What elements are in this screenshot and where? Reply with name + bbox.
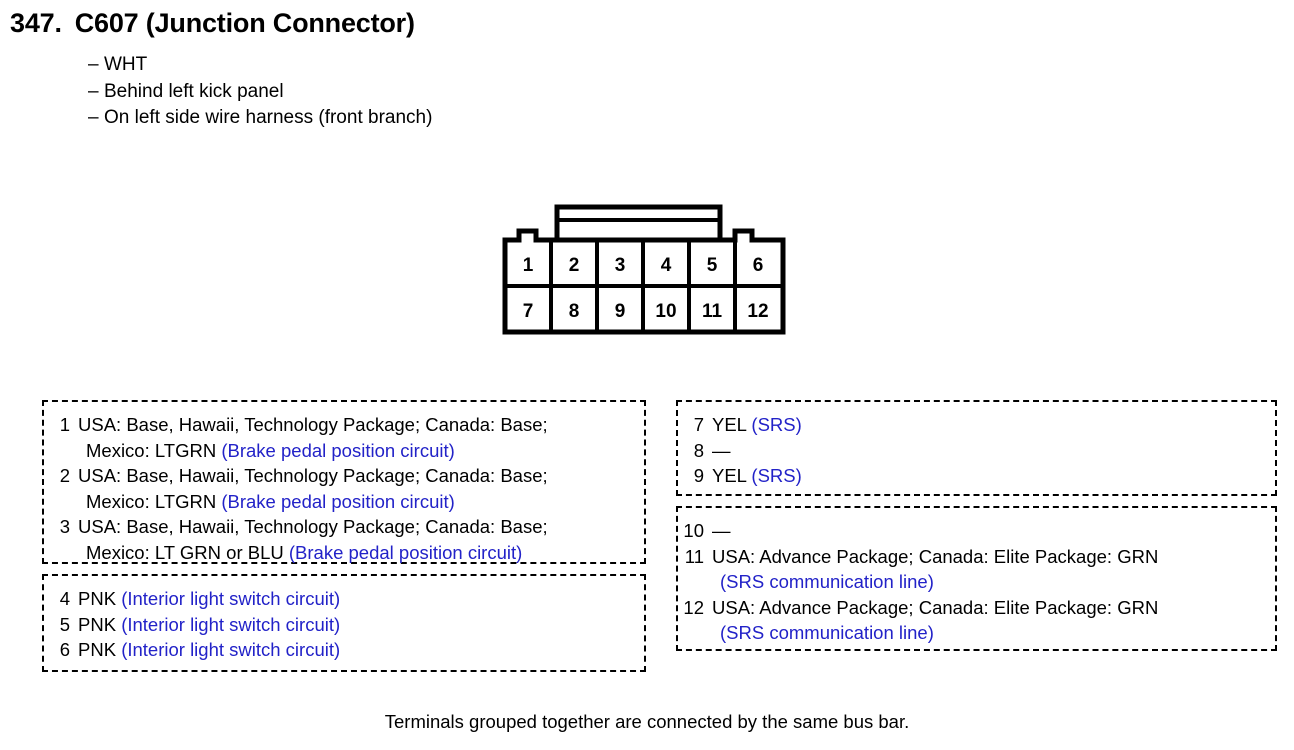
pin-entry: 8 — [682,438,1275,464]
pin-circuit-label: (SRS) [751,465,801,486]
pin-description: USA: Advance Package; Canada: Elite Pack… [712,544,1158,570]
pin-entry: 4 PNK (Interior light switch circuit) [48,586,644,612]
pin-entry-line: 11 USA: Advance Package; Canada: Elite P… [682,544,1275,570]
pin-description: YEL (SRS) [712,412,802,438]
pin-number: 4 [48,586,78,612]
connector-notes-list: –WHT –Behind left kick panel –On left si… [88,52,432,132]
pin-entry: 5 PNK (Interior light switch circuit) [48,612,644,638]
pin-circuit-label: (Brake pedal position circuit) [221,491,454,512]
pin-entry-line: Mexico: LTGRN (Brake pedal position circ… [48,489,644,515]
pin-entry-line: Mexico: LT GRN or BLU (Brake pedal posit… [48,540,644,566]
pin-description-cont: Mexico: LT GRN or BLU [86,542,284,563]
connector-pin-12: 12 [747,301,768,322]
pin-number: 10 [682,518,712,544]
connector-note: –WHT [88,52,432,79]
pin-entry-line: 12 USA: Advance Package; Canada: Elite P… [682,595,1275,621]
pin-number: 9 [682,463,712,489]
connector-pinout-diagram: 1 2 3 4 5 6 7 8 9 10 11 12 [495,193,795,343]
note-dash-icon: – [88,79,104,106]
pin-entry-line: Mexico: LTGRN (Brake pedal position circ… [48,438,644,464]
pin-circuit-label: (SRS communication line) [720,571,934,592]
pin-circuit-label: (SRS communication line) [720,622,934,643]
pin-circuit-label: (Brake pedal position circuit) [221,440,454,461]
pin-description: YEL (SRS) [712,463,802,489]
pin-entry: 10 — [682,518,1275,544]
pin-number: 3 [48,514,78,540]
pin-entry: 3 USA: Base, Hawaii, Technology Package;… [48,514,644,565]
connector-pin-7: 7 [523,301,534,322]
pin-list: 1 USA: Base, Hawaii, Technology Package;… [44,402,644,565]
pin-description: — [712,438,731,464]
pin-description: USA: Advance Package; Canada: Elite Pack… [712,595,1158,621]
pin-number: 7 [682,412,712,438]
connector-pin-6: 6 [753,255,764,276]
pin-description: PNK (Interior light switch circuit) [78,637,340,663]
pin-wire-color: YEL [712,465,746,486]
connector-pin-10: 10 [655,301,676,322]
pin-description: USA: Base, Hawaii, Technology Package; C… [78,463,548,489]
pin-entry: 11 USA: Advance Package; Canada: Elite P… [682,544,1275,595]
connector-top-flange [557,207,720,240]
pin-number: 1 [48,412,78,438]
connector-pin-8: 8 [569,301,580,322]
pin-list: 10 — 11 USA: Advance Package; Canada: El… [678,508,1275,646]
pin-wire-color: PNK [78,614,116,635]
pin-circuit-label: (Interior light switch circuit) [121,614,340,635]
pin-circuit-label: (SRS) [751,414,801,435]
pin-number: 5 [48,612,78,638]
pin-entry: 6 PNK (Interior light switch circuit) [48,637,644,663]
connector-pin-2: 2 [569,255,580,276]
pin-description: USA: Base, Hawaii, Technology Package; C… [78,514,548,540]
pin-list: 4 PNK (Interior light switch circuit) 5 … [44,576,644,663]
pin-description-cont: Mexico: LTGRN [86,491,216,512]
pin-description: PNK (Interior light switch circuit) [78,586,340,612]
connector-svg: 1 2 3 4 5 6 7 8 9 10 11 12 [495,193,795,343]
connector-pin-11: 11 [702,301,723,322]
pin-entry-line: 3 USA: Base, Hawaii, Technology Package;… [48,514,644,540]
pin-wire-color: — [712,520,731,541]
connector-note: –On left side wire harness (front branch… [88,105,432,132]
pin-entry: 2 USA: Base, Hawaii, Technology Package;… [48,463,644,514]
pin-entry-line: (SRS communication line) [682,569,1275,595]
pin-entry: 7 YEL (SRS) [682,412,1275,438]
pin-circuit-label: (Interior light switch circuit) [121,588,340,609]
pin-group-box: 1 USA: Base, Hawaii, Technology Package;… [42,400,646,564]
pin-wire-color: PNK [78,639,116,660]
pin-number: 11 [682,544,712,570]
pin-entry-line: 1 USA: Base, Hawaii, Technology Package;… [48,412,644,438]
connector-pin-4: 4 [661,255,672,276]
pin-group-box: 7 YEL (SRS) 8 — 9 YEL (SRS) [676,400,1277,496]
pin-group-box: 4 PNK (Interior light switch circuit) 5 … [42,574,646,672]
pin-entry: 9 YEL (SRS) [682,463,1275,489]
pin-number: 8 [682,438,712,464]
connector-pin-1: 1 [523,255,534,276]
pin-wire-color: PNK [78,588,116,609]
connector-note: –Behind left kick panel [88,79,432,106]
page-title-number: 347. [10,8,62,38]
pin-entry-line: (SRS communication line) [682,620,1275,646]
note-text: Behind left kick panel [104,81,284,102]
pin-circuit-label: (Interior light switch circuit) [121,639,340,660]
pin-wire-color: — [712,440,731,461]
pin-entry: 1 USA: Base, Hawaii, Technology Package;… [48,412,644,463]
pin-number: 12 [682,595,712,621]
bus-bar-note: Terminals grouped together are connected… [0,711,1294,733]
pin-wire-color: YEL [712,414,746,435]
pin-circuit-label: (Brake pedal position circuit) [289,542,522,563]
connector-pin-3: 3 [615,255,626,276]
pin-description-cont: Mexico: LTGRN [86,440,216,461]
connector-pin-9: 9 [615,301,626,322]
pin-list: 7 YEL (SRS) 8 — 9 YEL (SRS) [678,402,1275,489]
note-text: On left side wire harness (front branch) [104,107,432,128]
pin-description: USA: Base, Hawaii, Technology Package; C… [78,412,548,438]
connector-pin-5: 5 [707,255,718,276]
note-dash-icon: – [88,52,104,79]
page-title: 347.C607 (Junction Connector) [10,8,415,39]
pin-description: PNK (Interior light switch circuit) [78,612,340,638]
pin-number: 6 [48,637,78,663]
page-title-text: C607 (Junction Connector) [75,8,415,38]
pin-group-box: 10 — 11 USA: Advance Package; Canada: El… [676,506,1277,651]
note-text: WHT [104,54,147,75]
pin-entry: 12 USA: Advance Package; Canada: Elite P… [682,595,1275,646]
pin-entry-line: 2 USA: Base, Hawaii, Technology Package;… [48,463,644,489]
note-dash-icon: – [88,105,104,132]
pin-description: — [712,518,731,544]
pin-number: 2 [48,463,78,489]
